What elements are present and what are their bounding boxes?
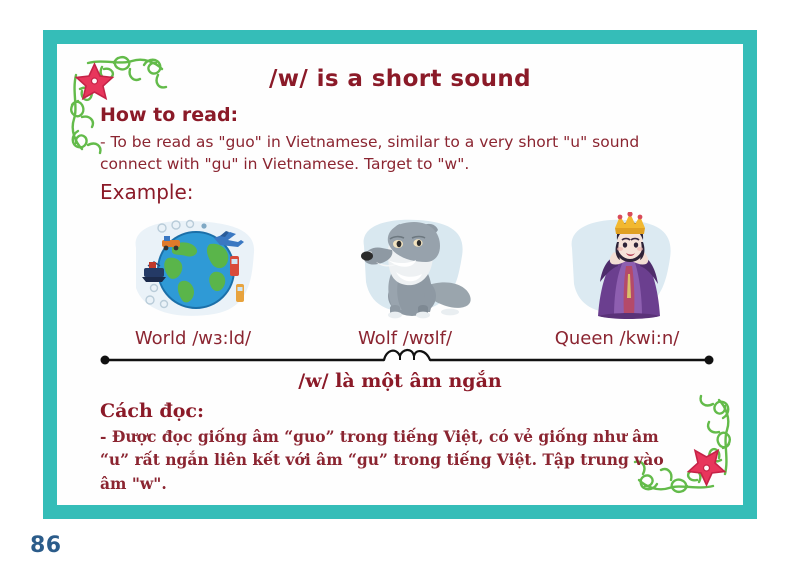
example-item-queen: Queen /kwi:n/ (519, 212, 715, 349)
page-number: 86 (30, 533, 62, 558)
globe-illustration (118, 212, 268, 324)
example-row: World /wɜ:ld/ (95, 204, 715, 349)
example-heading: Example: (100, 180, 194, 204)
how-to-read-heading: How to read: (100, 104, 238, 126)
page-title: /w/ is a short sound (0, 66, 800, 92)
example-item-world: World /wɜ:ld/ (95, 212, 291, 349)
wolf-illustration (330, 212, 480, 324)
queen-illustration (542, 212, 692, 324)
cach-doc-heading: Cách đọc: (100, 400, 204, 422)
example-item-wolf: Wolf /wʊlf/ (307, 212, 503, 349)
how-to-read-paragraph: - To be read as "guo" in Vietnamese, sim… (100, 131, 690, 176)
worksheet-page: /w/ is a short sound How to read: - To b… (0, 0, 800, 566)
page-title-vietnamese: /w/ là một âm ngắn (0, 370, 800, 392)
cach-doc-paragraph: - Được đọc giống âm “guo” trong tiếng Vi… (100, 425, 680, 495)
decorative-divider (100, 344, 714, 368)
